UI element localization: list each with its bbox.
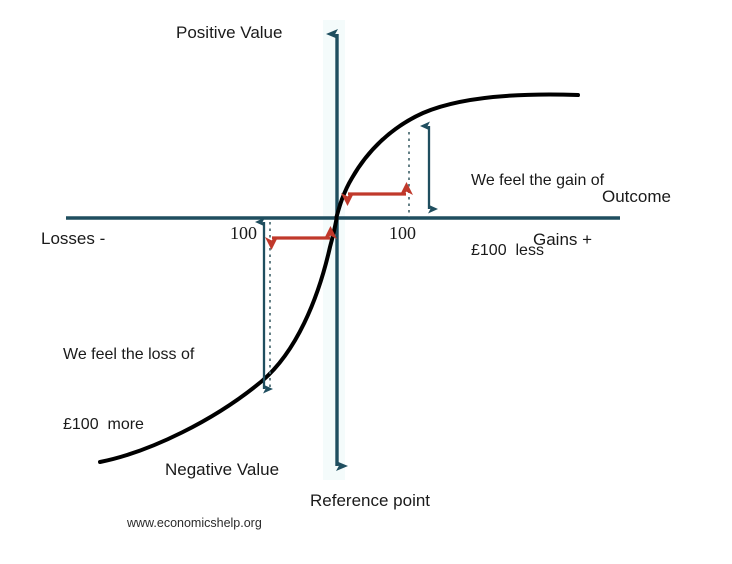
axis-label-reference-point: Reference point: [310, 490, 430, 512]
loss-annotation-line-1: We feel the loss of: [63, 343, 194, 366]
axis-label-outcome: Outcome: [602, 186, 671, 208]
axis-label-negative-value: Negative Value: [165, 459, 279, 481]
tick-label-loss-100: 100: [230, 222, 257, 245]
value-function-diagram: Positive Value Outcome Losses - Gains + …: [0, 0, 732, 564]
tick-label-gain-100: 100: [389, 222, 416, 245]
axis-label-positive-value: Positive Value: [176, 22, 282, 44]
loss-annotation-line-2: £100 more: [63, 413, 194, 436]
gain-annotation-line-1: We feel the gain of: [471, 169, 604, 192]
axis-backdrop: [323, 20, 345, 480]
loss-annotation: We feel the loss of £100 more: [63, 297, 194, 483]
gain-annotation: We feel the gain of £100 less: [471, 123, 604, 309]
axis-label-losses: Losses -: [41, 228, 105, 250]
watermark: www.economicshelp.org: [127, 515, 262, 531]
gain-annotation-line-2: £100 less: [471, 239, 604, 262]
